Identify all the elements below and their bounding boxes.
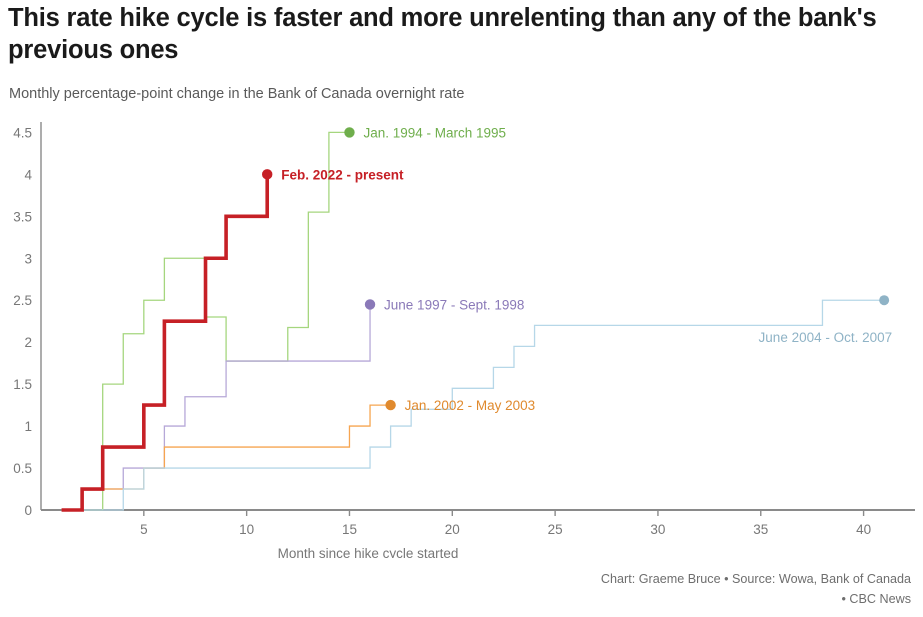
series-2 <box>62 304 370 510</box>
chart-subtitle: Monthly percentage-point change in the B… <box>9 86 889 102</box>
y-axis-tick-label: 3.5 <box>13 209 32 224</box>
chart-page: This rate hike cycle is faster and more … <box>0 0 923 617</box>
x-axis-tick-label: 30 <box>650 522 665 537</box>
y-axis-tick-label: 2 <box>24 335 32 350</box>
series-endpoint-marker <box>344 127 354 137</box>
annotation-4: June 2004 - Oct. 2007 <box>759 295 893 345</box>
page-title: This rate hike cycle is faster and more … <box>8 2 908 66</box>
x-axis-tick-label: 15 <box>342 522 357 537</box>
series-endpoint-marker <box>365 299 375 309</box>
x-axis-tick-label: 20 <box>445 522 460 537</box>
x-axis-tick-label: 10 <box>239 522 254 537</box>
series-label: Jan. 1994 - March 1995 <box>363 125 506 140</box>
series-label: June 1997 - Sept. 1998 <box>384 297 524 312</box>
x-axis-tick-label: 25 <box>548 522 563 537</box>
y-axis-tick-label: 2.5 <box>13 293 32 308</box>
series-label: Jan. 2002 - May 2003 <box>405 398 536 413</box>
chart-footer: Chart: Graeme Bruce • Source: Wowa, Bank… <box>311 570 911 609</box>
annotation-2: June 1997 - Sept. 1998 <box>365 297 525 312</box>
chart-plot-area: 00.511.522.533.544.5510152025303540Month… <box>0 108 923 558</box>
annotation-3: Jan. 2002 - May 2003 <box>385 398 535 413</box>
footer-credit: Chart: Graeme Bruce • Source: Wowa, Bank… <box>311 570 911 590</box>
y-axis-tick-label: 3 <box>24 251 32 266</box>
y-axis-tick-label: 4 <box>24 167 32 182</box>
x-axis-label: Month since hike cycle started <box>278 546 459 558</box>
series-line <box>62 405 391 510</box>
line-chart: 00.511.522.533.544.5510152025303540Month… <box>0 108 923 558</box>
footer-outlet: • CBC News <box>311 590 911 610</box>
annotation-0: Jan. 1994 - March 1995 <box>344 125 506 140</box>
x-axis-tick-label: 40 <box>856 522 871 537</box>
series-3 <box>62 405 391 510</box>
series-label: Feb. 2022 - present <box>281 167 404 182</box>
series-endpoint-marker <box>262 169 272 179</box>
y-axis-tick-label: 1.5 <box>13 377 32 392</box>
series-line <box>62 304 370 510</box>
series-endpoint-marker <box>385 400 395 410</box>
y-axis-tick-label: 0 <box>24 503 32 518</box>
series-label: June 2004 - Oct. 2007 <box>759 330 893 345</box>
x-axis-tick-label: 5 <box>140 522 148 537</box>
annotation-1: Feb. 2022 - present <box>262 167 404 182</box>
y-axis-tick-label: 1 <box>24 419 32 434</box>
y-axis-tick-label: 4.5 <box>13 125 32 140</box>
x-axis-tick-label: 35 <box>753 522 768 537</box>
series-endpoint-marker <box>879 295 889 305</box>
y-axis-tick-label: 0.5 <box>13 461 32 476</box>
